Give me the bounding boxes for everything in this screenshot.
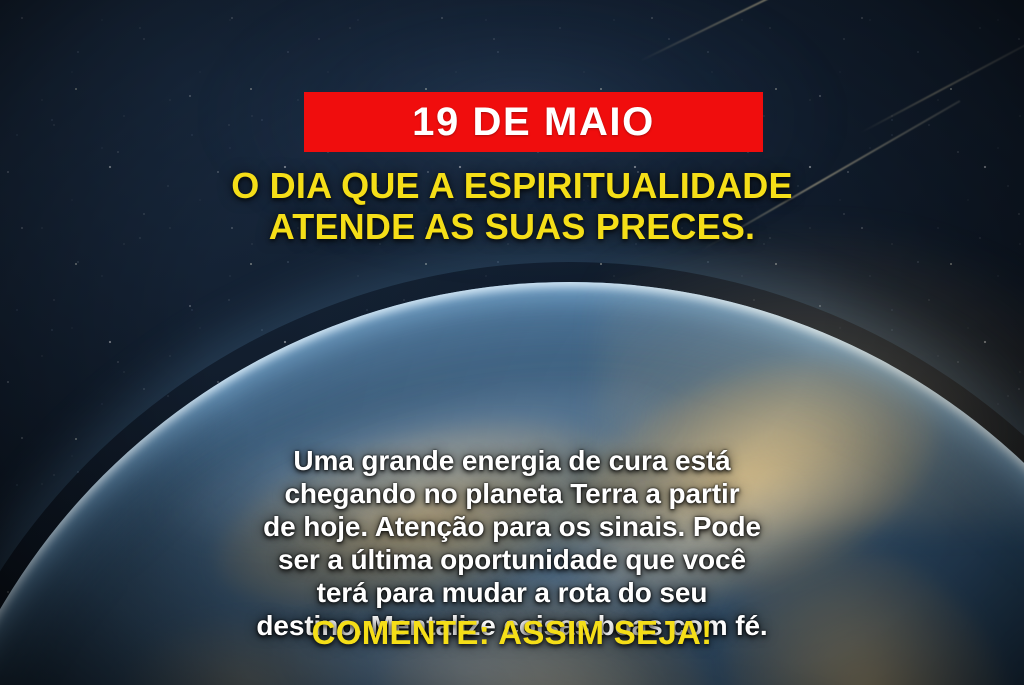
body-line-5: terá para mudar a rota do seu <box>62 576 962 609</box>
body-line-2: chegando no planeta Terra a partir <box>62 477 962 510</box>
body-line-4: ser a última oportunidade que você <box>62 543 962 576</box>
poster-image: 19 DE MAIO O DIA QUE A ESPIRITUALIDADE A… <box>0 0 1024 685</box>
headline-line-2: ATENDE AS SUAS PRECES. <box>0 206 1024 247</box>
body-paragraph: Uma grande energia de cura está chegando… <box>62 444 962 642</box>
call-to-action: COMENTE: ASSIM SEJA! <box>0 614 1024 652</box>
headline: O DIA QUE A ESPIRITUALIDADE ATENDE AS SU… <box>0 165 1024 247</box>
date-banner: 19 DE MAIO <box>304 92 763 152</box>
body-line-3: de hoje. Atenção para os sinais. Pode <box>62 510 962 543</box>
headline-line-1: O DIA QUE A ESPIRITUALIDADE <box>0 165 1024 206</box>
date-banner-label: 19 DE MAIO <box>412 102 655 142</box>
body-line-1: Uma grande energia de cura está <box>62 444 962 477</box>
text-overlay: 19 DE MAIO O DIA QUE A ESPIRITUALIDADE A… <box>0 0 1024 685</box>
